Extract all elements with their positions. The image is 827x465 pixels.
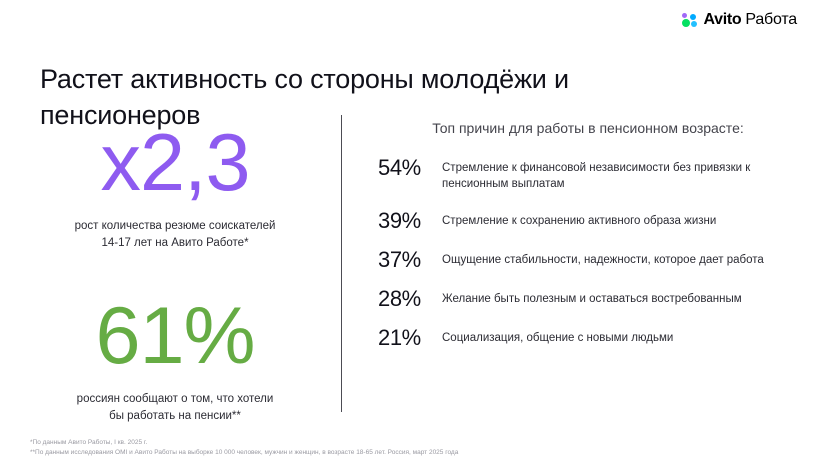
reason-text: Стремление к сохранению активного образа… [442, 212, 798, 229]
reasons-list: 54% Стремление к финансовой независимост… [378, 159, 798, 349]
footnote: *По данным Авито Работы, I кв. 2025 г. [30, 438, 810, 449]
stat-value: 61% [30, 298, 320, 375]
stat-caption-line: бы работать на пенсии** [109, 410, 241, 422]
statistics-column: x2,3 рост количества резюме соискателей … [30, 125, 320, 425]
stat-block: x2,3 рост количества резюме соискателей … [30, 125, 320, 251]
brand-name-rabota: Работа [745, 11, 797, 29]
list-item: 28% Желание быть полезным и оставаться в… [378, 290, 798, 310]
list-item: 37% Ощущение стабильности, надежности, к… [378, 251, 798, 271]
footnotes: *По данным Авито Работы, I кв. 2025 г. *… [30, 438, 810, 459]
stat-caption-line: рост количества резюме соискателей [75, 220, 276, 232]
logo-dot-green-icon [682, 19, 690, 27]
reason-percent: 39% [378, 209, 442, 232]
reason-text: Желание быть полезным и оставаться востр… [442, 290, 798, 307]
logo-dot-purple-icon [682, 13, 687, 18]
reason-percent: 54% [378, 156, 442, 179]
list-item: 21% Социализация, общение с новыми людьм… [378, 329, 798, 349]
reason-text: Ощущение стабильности, надежности, котор… [442, 251, 798, 268]
footnote: **По данным исследования OMI и Авито Раб… [30, 448, 810, 459]
reasons-title: Топ причин для работы в пенсионном возра… [378, 118, 798, 139]
stat-caption-line: 14-17 лет на Авито Работе* [101, 237, 248, 249]
column-divider [341, 115, 342, 412]
reasons-column: Топ причин для работы в пенсионном возра… [378, 118, 798, 349]
logo-dot-blue-icon [690, 14, 696, 20]
reason-percent: 28% [378, 287, 442, 310]
reason-text: Стремление к финансовой независимости бе… [442, 159, 798, 193]
list-item: 39% Стремление к сохранению активного об… [378, 212, 798, 232]
reason-text: Социализация, общение с новыми людьми [442, 329, 798, 346]
stat-caption-line: россиян сообщают о том, что хотели [77, 393, 274, 405]
reason-percent: 37% [378, 248, 442, 271]
list-item: 54% Стремление к финансовой независимост… [378, 159, 798, 193]
brand-logo[interactable]: Avito Работа [682, 11, 797, 29]
reason-percent: 21% [378, 326, 442, 349]
logo-dot-lightblue-icon [691, 21, 697, 27]
avito-logo-dots-icon [682, 13, 697, 27]
stat-block: 61% россиян сообщают о том, что хотели б… [30, 298, 320, 424]
stat-caption: россиян сообщают о том, что хотели бы ра… [30, 391, 320, 424]
brand-name-avito: Avito [703, 11, 741, 29]
stat-value: x2,3 [30, 125, 320, 202]
stat-caption: рост количества резюме соискателей 14-17… [30, 218, 320, 251]
